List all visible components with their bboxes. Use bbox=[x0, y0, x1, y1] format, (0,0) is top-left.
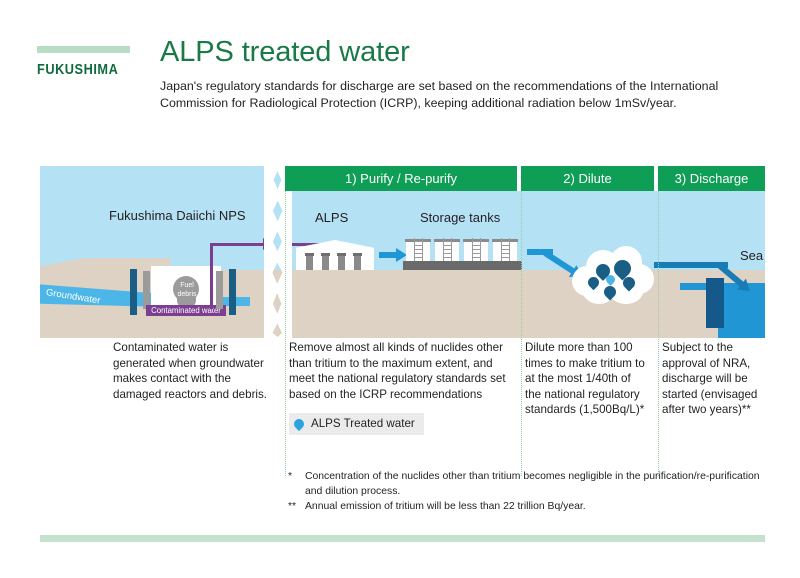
sea-water bbox=[718, 287, 765, 338]
step-header-discharge: 3) Discharge bbox=[658, 166, 765, 191]
discharge-outlet-structure bbox=[706, 278, 724, 328]
alps-treated-water-badge: ALPS Treated water bbox=[289, 413, 424, 435]
logo-text: FUKUSHIMA bbox=[37, 62, 119, 78]
column-discharge: Subject to the approval of NRA, discharg… bbox=[662, 340, 770, 418]
label-fukushima-daiichi-nps: Fukushima Daiichi NPS bbox=[109, 208, 246, 223]
tank-ladder-icon bbox=[414, 238, 423, 261]
flow-arrow-alps-to-tanks bbox=[379, 252, 397, 258]
bottom-rule bbox=[40, 535, 765, 542]
dilution-cloud bbox=[570, 244, 656, 306]
badge-label: ALPS Treated water bbox=[311, 416, 415, 432]
footnotes: * Concentration of the nuclides other th… bbox=[288, 470, 768, 516]
column-dilute: Dilute more than 100 times to make triti… bbox=[525, 340, 645, 418]
label-sea: Sea bbox=[740, 248, 763, 263]
label-alps: ALPS bbox=[315, 210, 348, 225]
label-storage-tanks: Storage tanks bbox=[420, 210, 500, 225]
page-subtitle: Japan's regulatory standards for dischar… bbox=[160, 78, 765, 113]
storage-tank-1 bbox=[406, 242, 430, 261]
process-diagram: Groundwater Fuel debris Contaminated wat… bbox=[40, 166, 765, 338]
footnote-text: Annual emission of tritium will be less … bbox=[305, 500, 768, 515]
tank-foundation bbox=[403, 261, 522, 270]
column-contaminated-water: Contaminated water is generated when gro… bbox=[113, 340, 273, 402]
fuel-debris-label-line1: Fuel bbox=[171, 282, 203, 291]
page-header: FUKUSHIMA ALPS treated water Japan's reg… bbox=[0, 0, 800, 150]
tank-ladder-icon bbox=[443, 238, 452, 261]
water-drop-icon bbox=[292, 417, 306, 431]
fuel-debris-label-line2: debris bbox=[171, 291, 203, 300]
alps-column-1 bbox=[306, 253, 313, 270]
seawall-pile-4 bbox=[229, 269, 236, 315]
column-text: Subject to the approval of NRA, discharg… bbox=[662, 341, 757, 416]
seawall-pile-2 bbox=[143, 271, 150, 309]
column-purify: Remove almost all kinds of nuclides othe… bbox=[289, 340, 507, 435]
step-header-purify: 1) Purify / Re-purify bbox=[285, 166, 517, 191]
storage-tank-4 bbox=[493, 242, 517, 261]
fuel-debris-label: Fuel debris bbox=[171, 282, 203, 299]
storage-tank-3 bbox=[464, 242, 488, 261]
footnote-text: Concentration of the nuclides other than… bbox=[305, 470, 768, 499]
logo-bar bbox=[37, 46, 130, 53]
footnote-item: ** Annual emission of tritium will be le… bbox=[288, 500, 768, 515]
contaminated-water-pipe-horizontal bbox=[210, 243, 265, 246]
contaminated-water-label: Contaminated water bbox=[146, 305, 226, 316]
seawall-pile-3 bbox=[216, 271, 223, 309]
tank-ladder-icon bbox=[501, 238, 510, 261]
column-text: Contaminated water is generated when gro… bbox=[113, 341, 267, 401]
column-text: Dilute more than 100 times to make triti… bbox=[525, 341, 645, 416]
footnote-item: * Concentration of the nuclides other th… bbox=[288, 470, 768, 499]
storage-tank-2 bbox=[435, 242, 459, 261]
diagram-scene: Groundwater Fuel debris Contaminated wat… bbox=[40, 166, 765, 338]
seawall-pile-1 bbox=[130, 269, 137, 315]
step-header-dilute: 2) Dilute bbox=[521, 166, 654, 191]
page-title: ALPS treated water bbox=[160, 36, 410, 69]
description-columns: Contaminated water is generated when gro… bbox=[40, 340, 765, 460]
contaminated-water-pipe-vertical bbox=[210, 243, 213, 309]
fukushima-logo: FUKUSHIMA bbox=[37, 46, 130, 78]
column-text: Remove almost all kinds of nuclides othe… bbox=[289, 341, 506, 401]
alps-column-3 bbox=[338, 253, 345, 270]
footnote-marker: ** bbox=[288, 500, 305, 515]
alps-column-2 bbox=[322, 253, 329, 270]
tank-ladder-icon bbox=[472, 238, 481, 261]
alps-column-4 bbox=[354, 253, 361, 270]
discharge-pipe-horizontal bbox=[654, 262, 728, 268]
footnote-marker: * bbox=[288, 470, 305, 499]
